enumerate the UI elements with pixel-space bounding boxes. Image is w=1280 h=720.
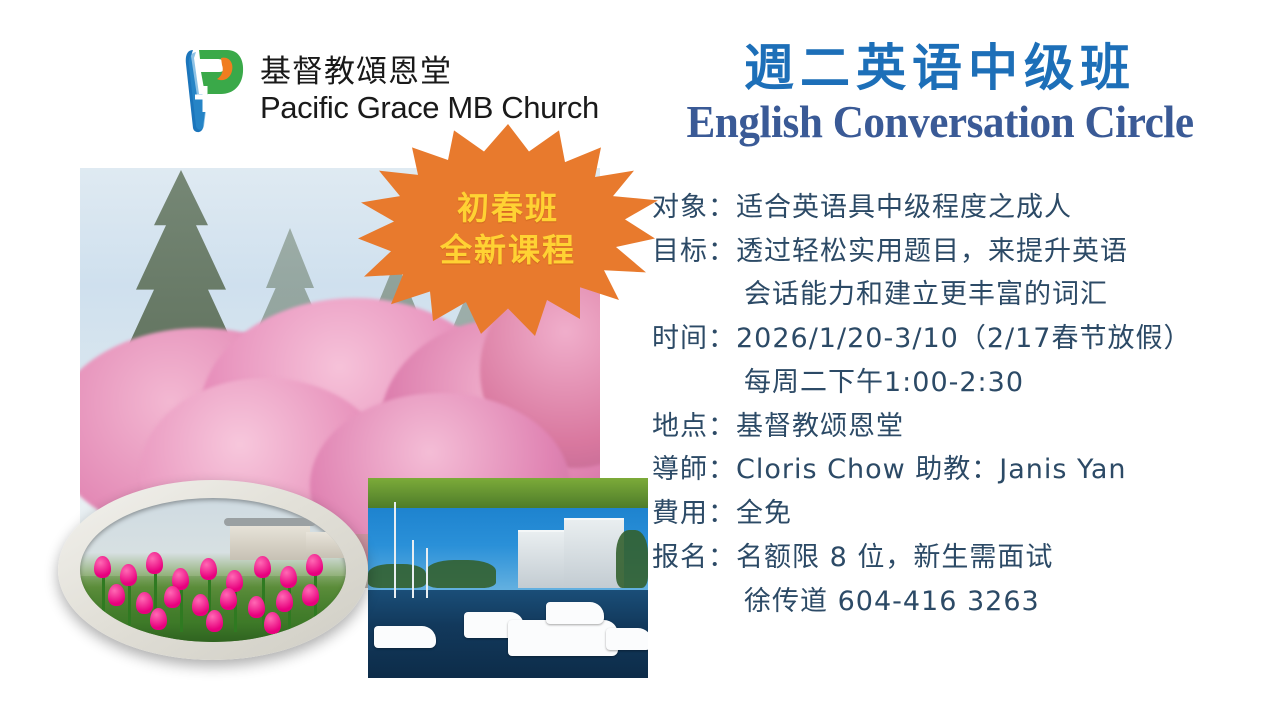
- detail-line-location: 地点：基督教颂恩堂: [652, 405, 1252, 449]
- sailboat-mast: [426, 548, 428, 598]
- pacific-grace-p-logo-icon: [183, 46, 247, 134]
- marina-hedge: [368, 478, 648, 508]
- yacht-cabin: [546, 602, 604, 624]
- tulip-bloom: [108, 584, 125, 606]
- detail-line-schedule: 每周二下午1:00-2:30: [652, 361, 1252, 405]
- sailboat-mast: [412, 540, 414, 598]
- tulip-bloom: [306, 554, 323, 576]
- detail-line-contact: 徐传道 604-416 3263: [652, 580, 1252, 624]
- logo-name-en: Pacific Grace MB Church: [260, 92, 599, 123]
- building-roof: [224, 518, 316, 526]
- tulip-bloom: [280, 566, 297, 588]
- tulip-bloom: [254, 556, 271, 578]
- tulip-bloom: [302, 584, 319, 606]
- tulip-bloom: [206, 610, 223, 632]
- tulip-bloom: [150, 608, 167, 630]
- detail-line-goal: 目标：透过轻松实用题目，来提升英语: [652, 230, 1252, 274]
- logo-wordmark: 基督教頌恩堂 Pacific Grace MB Church: [260, 57, 599, 123]
- tulip-bloom: [164, 586, 181, 608]
- detail-line-instructor: 導師：Cloris Chow 助教：Janis Yan: [652, 448, 1252, 492]
- detail-line-registration: 报名：名额限 8 位，新生需面试: [652, 536, 1252, 580]
- detail-line-goal-cont: 会话能力和建立更丰富的词汇: [652, 273, 1252, 317]
- page-title-cn: 週二英语中级班: [640, 40, 1240, 96]
- tulip-bloom: [276, 590, 293, 612]
- sailboat: [374, 626, 436, 648]
- tulip-bloom: [120, 564, 137, 586]
- tulip-bloom: [146, 552, 163, 574]
- motorboat: [606, 628, 648, 650]
- detail-line-audience: 对象：适合英语具中级程度之成人: [652, 186, 1252, 230]
- logo-name-cn: 基督教頌恩堂: [260, 57, 599, 88]
- church-logo: 基督教頌恩堂 Pacific Grace MB Church: [183, 46, 599, 134]
- detail-line-dates: 时间：2026/1/20-3/10（2/17春节放假）: [652, 317, 1252, 361]
- oval-photo-frame: [58, 480, 368, 660]
- tulip-bloom: [136, 592, 153, 614]
- detail-line-fee: 費用：全免: [652, 492, 1252, 536]
- pink-tulip-field-photo: [80, 498, 346, 642]
- sailboat-mast: [394, 502, 396, 598]
- marina-tree: [426, 560, 496, 588]
- marina-building: [564, 518, 624, 588]
- yacht: [508, 620, 618, 656]
- background-building: [230, 524, 310, 560]
- tulip-bloom: [192, 594, 209, 616]
- marina-boats-photo: [368, 478, 648, 678]
- page-title-en: English Conversation Circle: [652, 98, 1228, 148]
- tulip-bloom: [264, 612, 281, 634]
- course-details: 对象：适合英语具中级程度之成人 目标：透过轻松实用题目，来提升英语 会话能力和建…: [652, 186, 1252, 623]
- tulip-bloom: [200, 558, 217, 580]
- tulip-bloom: [94, 556, 111, 578]
- marina-tree: [616, 530, 648, 588]
- poster-canvas: 基督教頌恩堂 Pacific Grace MB Church: [0, 0, 1280, 720]
- tulip-bloom: [220, 588, 237, 610]
- headline: 週二英语中级班 English Conversation Circle: [640, 40, 1240, 148]
- marina-tree: [368, 564, 426, 588]
- tulip-bloom: [248, 596, 265, 618]
